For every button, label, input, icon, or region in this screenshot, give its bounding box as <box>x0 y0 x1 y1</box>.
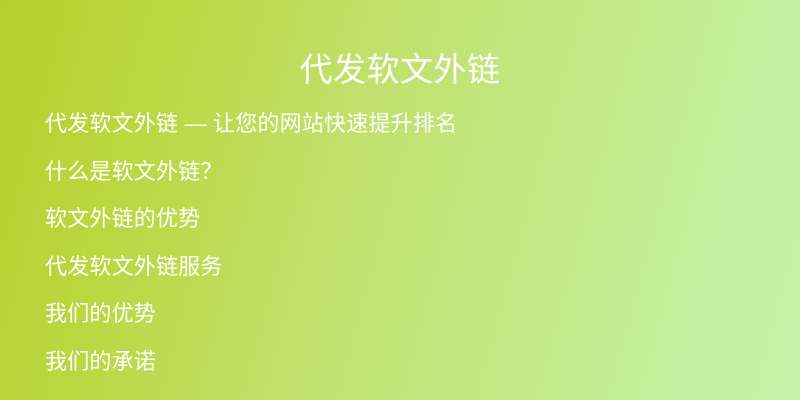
list-item: 我们的优势 <box>45 290 765 338</box>
section-list: 代发软文外链 — 让您的网站快速提升排名 什么是软文外链？ 软文外链的优势 代发… <box>45 100 765 385</box>
list-item: 代发软文外链服务 <box>45 243 765 291</box>
promo-banner: 代发软文外链 代发软文外链 — 让您的网站快速提升排名 什么是软文外链？ 软文外… <box>0 0 800 400</box>
list-item: 什么是软文外链？ <box>45 148 765 196</box>
list-item: 代发软文外链 — 让您的网站快速提升排名 <box>45 100 765 148</box>
list-item: 我们的承诺 <box>45 338 765 386</box>
list-item: 软文外链的优势 <box>45 195 765 243</box>
page-title: 代发软文外链 <box>0 50 800 90</box>
